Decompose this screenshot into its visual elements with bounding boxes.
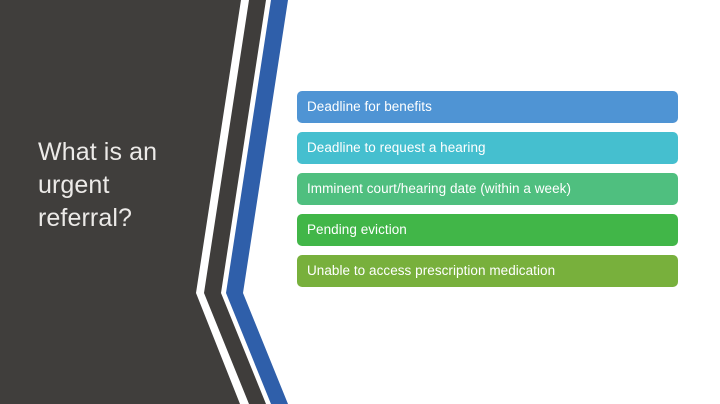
list-item[interactable]: Deadline to request a hearing <box>297 132 678 164</box>
list-item[interactable]: Deadline for benefits <box>297 91 678 123</box>
bar-label: Imminent court/hearing date (within a we… <box>307 182 571 196</box>
slide: What is an urgent referral? Deadline for… <box>0 0 720 404</box>
bar-label: Pending eviction <box>307 223 407 237</box>
bar-label: Deadline for benefits <box>307 100 432 114</box>
list-item[interactable]: Pending eviction <box>297 214 678 246</box>
bar-label: Deadline to request a hearing <box>307 141 486 155</box>
bar-list: Deadline for benefits Deadline to reques… <box>297 91 678 287</box>
page-title: What is an urgent referral? <box>38 136 213 235</box>
list-item[interactable]: Imminent court/hearing date (within a we… <box>297 173 678 205</box>
list-item[interactable]: Unable to access prescription medication <box>297 255 678 287</box>
bar-label: Unable to access prescription medication <box>307 264 555 278</box>
